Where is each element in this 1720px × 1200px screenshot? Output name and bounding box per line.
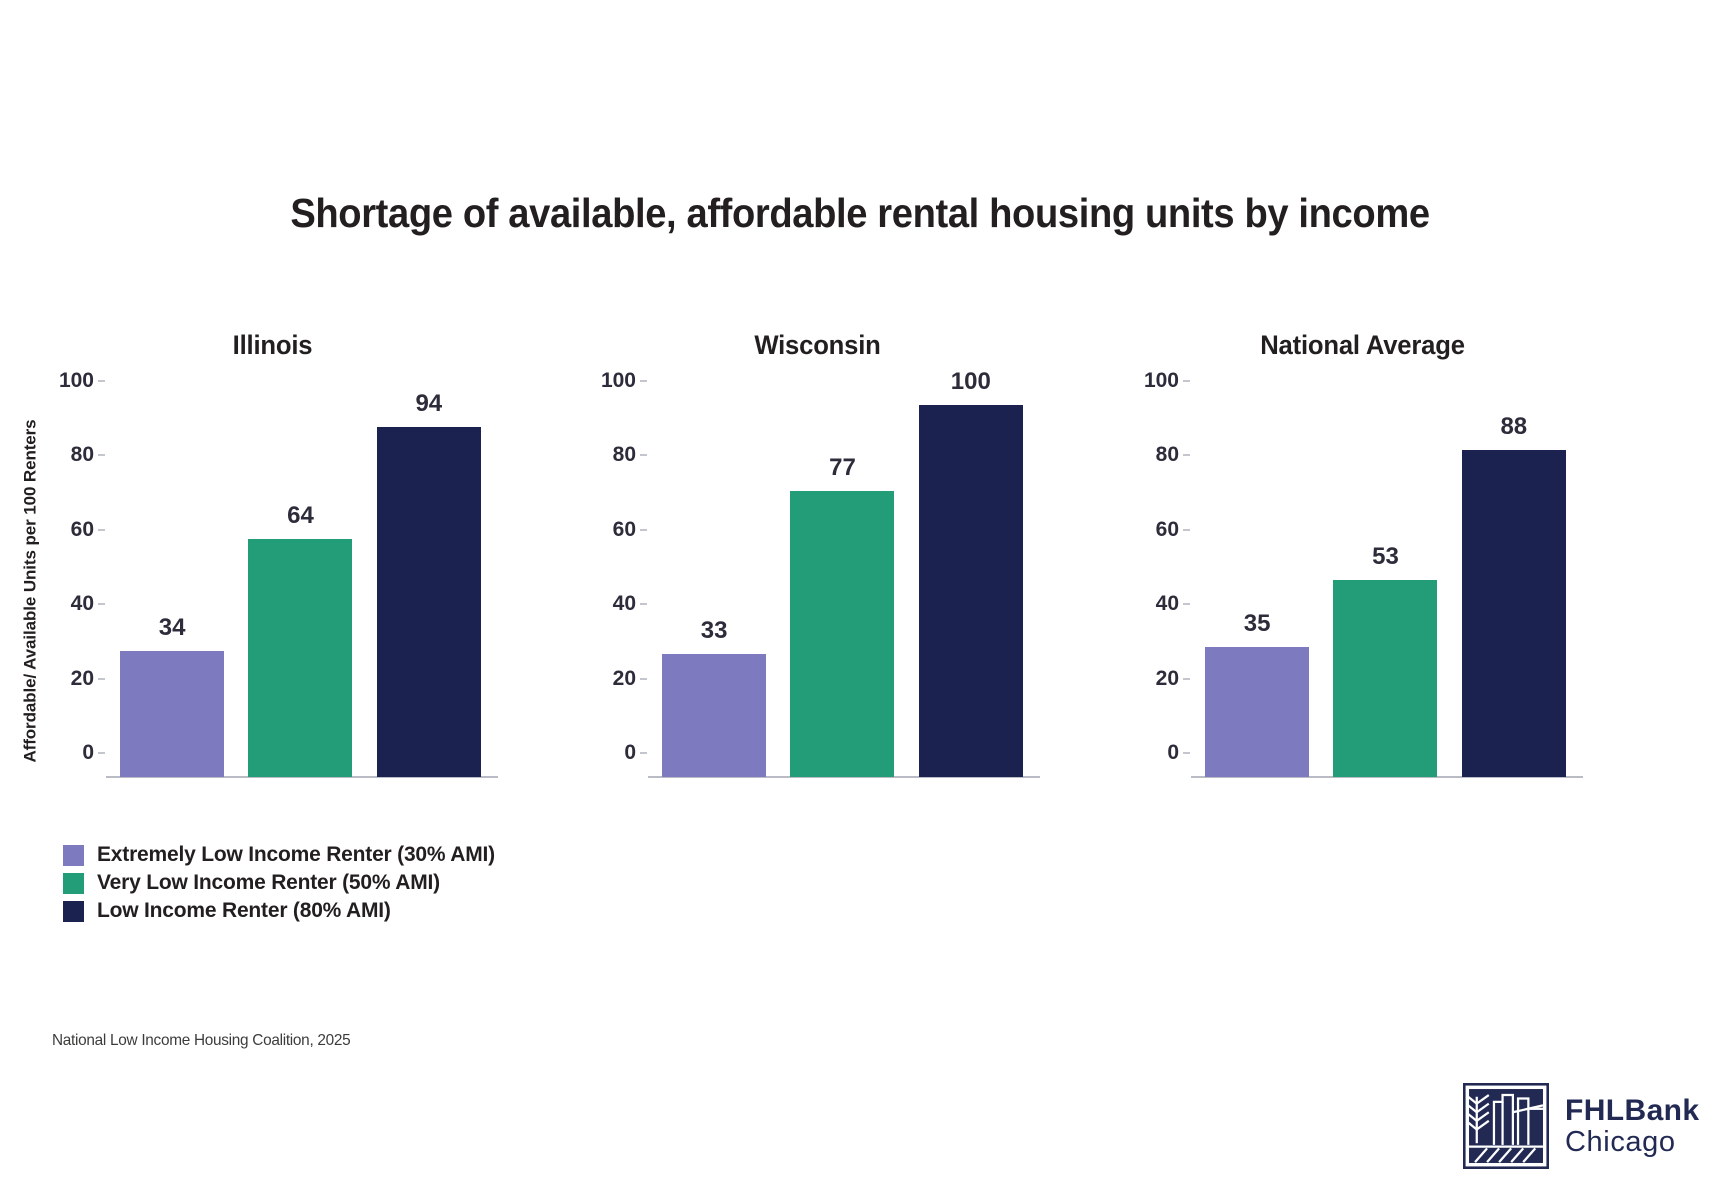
bar-value-label: 64 [287, 502, 314, 530]
fhlbank-chicago-logo: FHLBank Chicago [1463, 1083, 1699, 1169]
y-tick-60: 60 [1156, 518, 1193, 542]
panel-title-illinois: Illinois [14, 330, 532, 361]
y-tick-0: 0 [82, 741, 108, 765]
panel-title-wisconsin: Wisconsin [559, 330, 1077, 361]
legend-label-extremely-low: Extremely Low Income Renter (30% AMI) [97, 843, 495, 867]
logo-wordmark: FHLBank Chicago [1565, 1095, 1699, 1158]
legend-swatch-extremely-low [63, 845, 84, 866]
bar-value-label: 34 [159, 614, 186, 642]
bar-value-label: 94 [415, 390, 442, 418]
chart-panel-national-average: National Average 100 80 60 40 20 0 35 53 [1090, 330, 1635, 830]
y-tick-40: 40 [71, 592, 108, 616]
bar-item: 35 [1205, 405, 1309, 777]
y-tick-100: 100 [1144, 369, 1193, 393]
page-title: Shortage of available, affordable rental… [60, 190, 1660, 237]
y-tick-0: 0 [624, 741, 650, 765]
bar-item: 64 [248, 405, 352, 777]
y-tick-80: 80 [1156, 443, 1193, 467]
bar-group: 33 77 100 [650, 405, 1035, 777]
y-tick-0: 0 [1167, 741, 1193, 765]
legend-item-extremely-low[interactable]: Extremely Low Income Renter (30% AMI) [63, 845, 495, 865]
bar-value-label: 88 [1500, 413, 1527, 441]
bar-group: 35 53 88 [1193, 405, 1578, 777]
source-citation: National Low Income Housing Coalition, 2… [52, 1032, 350, 1050]
y-tick-40: 40 [1156, 592, 1193, 616]
y-tick-60: 60 [71, 518, 108, 542]
y-axis-label: Affordable/ Available Units per 100 Rent… [18, 405, 44, 777]
y-tick-20: 20 [71, 667, 108, 691]
bar-item: 33 [662, 405, 766, 777]
chart-panel-illinois: Illinois Affordable/ Available Units per… [0, 330, 545, 830]
plot-area-national-average: 100 80 60 40 20 0 35 53 88 [1193, 405, 1578, 777]
bar-item: 53 [1333, 405, 1437, 777]
fhlbank-emblem-icon [1463, 1083, 1549, 1169]
bar-extremely-low[interactable]: 34 [120, 651, 224, 777]
legend-label-very-low: Very Low Income Renter (50% AMI) [97, 871, 440, 895]
panel-title-national-average: National Average [1104, 330, 1622, 361]
bar-value-label: 100 [951, 368, 991, 396]
logo-line-1: FHLBank [1565, 1095, 1699, 1127]
y-tick-80: 80 [71, 443, 108, 467]
bar-item: 34 [120, 405, 224, 777]
legend-item-very-low[interactable]: Very Low Income Renter (50% AMI) [63, 873, 495, 893]
bar-group: 34 64 94 [108, 405, 493, 777]
chart-panels: Illinois Affordable/ Available Units per… [0, 330, 1720, 830]
legend-swatch-low [63, 901, 84, 922]
bar-value-label: 35 [1244, 610, 1271, 638]
y-tick-100: 100 [601, 369, 650, 393]
bar-value-label: 33 [701, 617, 728, 645]
bar-item: 100 [919, 405, 1023, 777]
chart-legend: Extremely Low Income Renter (30% AMI) Ve… [63, 845, 495, 929]
bar-extremely-low[interactable]: 35 [1205, 647, 1309, 777]
bar-item: 77 [790, 405, 894, 777]
y-tick-20: 20 [613, 667, 650, 691]
plot-area-wisconsin: 100 80 60 40 20 0 33 77 10 [650, 405, 1035, 777]
y-tick-100: 100 [59, 369, 108, 393]
y-tick-20: 20 [1156, 667, 1193, 691]
bar-low[interactable]: 94 [377, 427, 481, 777]
bar-value-label: 53 [1372, 543, 1399, 571]
bar-value-label: 77 [829, 454, 856, 482]
y-tick-60: 60 [613, 518, 650, 542]
bar-extremely-low[interactable]: 33 [662, 654, 766, 777]
y-tick-80: 80 [613, 443, 650, 467]
legend-label-low: Low Income Renter (80% AMI) [97, 899, 391, 923]
y-axis-label-text: Affordable/ Available Units per 100 Rent… [21, 419, 41, 762]
bar-very-low[interactable]: 64 [248, 539, 352, 777]
bar-item: 94 [377, 405, 481, 777]
bar-low[interactable]: 100 [919, 405, 1023, 777]
bar-very-low[interactable]: 53 [1333, 580, 1437, 777]
legend-item-low[interactable]: Low Income Renter (80% AMI) [63, 901, 495, 921]
chart-panel-wisconsin: Wisconsin 100 80 60 40 20 0 33 77 [545, 330, 1090, 830]
logo-line-2: Chicago [1565, 1127, 1699, 1158]
y-tick-40: 40 [613, 592, 650, 616]
bar-item: 88 [1462, 405, 1566, 777]
bar-low[interactable]: 88 [1462, 450, 1566, 777]
bar-very-low[interactable]: 77 [790, 491, 894, 777]
legend-swatch-very-low [63, 873, 84, 894]
plot-area-illinois: 100 80 60 40 20 0 34 64 94 [108, 405, 493, 777]
